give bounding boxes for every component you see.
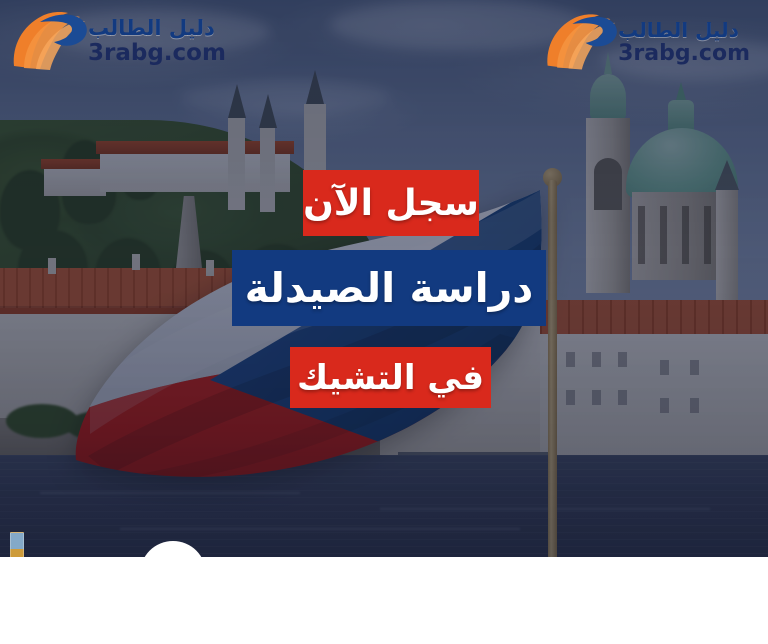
logo-domain: 3rabg.com — [618, 43, 750, 65]
logo-domain: 3rabg.com — [88, 42, 226, 65]
background-photo: دليل الطالب 3rabg.com دليل الطالب 3rabg.… — [0, 0, 768, 560]
footer-bar: دليل الطالب 3rabg.com موقع منح حول العال… — [0, 557, 768, 644]
banner-register-now[interactable]: سجل الآن — [303, 170, 479, 236]
logo-arabic-name: دليل الطالب — [88, 18, 215, 39]
brand-feather-icon — [540, 8, 618, 76]
logo-top-right[interactable]: دليل الطالب 3rabg.com — [540, 8, 750, 76]
corner-watermark-icon — [10, 532, 24, 560]
logo-arabic-name: دليل الطالب — [618, 20, 739, 40]
banner-country: في التشيك — [290, 347, 491, 408]
logo-top-right-text: دليل الطالب 3rabg.com — [618, 20, 750, 65]
banner-main-title: دراسة الصيدلة — [232, 250, 546, 326]
logo-top-left-text: دليل الطالب 3rabg.com — [88, 18, 226, 65]
promo-poster: دليل الطالب 3rabg.com دليل الطالب 3rabg.… — [0, 0, 768, 644]
logo-top-left[interactable]: دليل الطالب 3rabg.com — [6, 6, 226, 76]
brand-feather-icon — [6, 6, 88, 76]
